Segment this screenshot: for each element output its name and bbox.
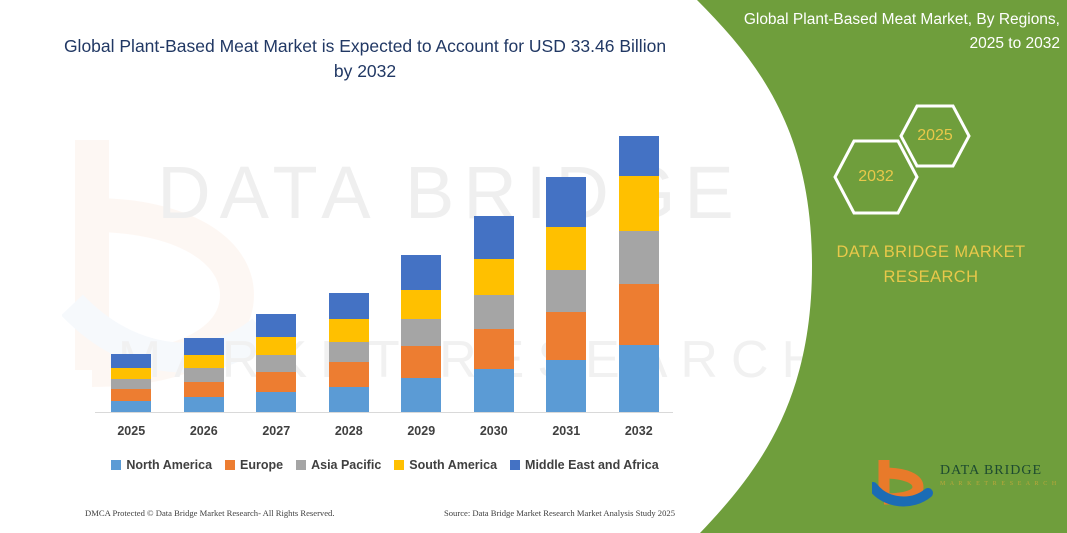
legend-swatch-europe [225, 460, 235, 470]
legend-item-asia-pacific[interactable]: Asia Pacific [296, 458, 381, 472]
bar-2032 [619, 136, 659, 413]
panel-title: Global Plant-Based Meat Market, By Regio… [740, 8, 1060, 56]
bar-segment-2029-middle-east-and-africa [401, 255, 441, 290]
bar-segment-2031-middle-east-and-africa [546, 177, 586, 227]
legend-swatch-middle-east-and-africa [510, 460, 520, 470]
bar-segment-2028-asia-pacific [329, 342, 369, 362]
bar-segment-2028-middle-east-and-africa [329, 293, 369, 319]
chart-title: Global Plant-Based Meat Market is Expect… [60, 34, 670, 84]
bar-segment-2031-europe [546, 312, 586, 360]
bar-segment-2026-asia-pacific [184, 368, 224, 382]
hexagon-year-2025: 2025 [898, 103, 972, 169]
bar-segment-2031-north-america [546, 360, 586, 413]
bar-segment-2032-south-america [619, 176, 659, 231]
infographic-canvas: DATA BRIDGE MARKET RESEARCH Global Plant… [0, 0, 1067, 533]
bar-segment-2028-north-america [329, 387, 369, 413]
legend-swatch-north-america [111, 460, 121, 470]
x-axis-label-2027: 2027 [240, 424, 312, 438]
bar-2026 [184, 338, 224, 413]
x-axis-label-2026: 2026 [168, 424, 240, 438]
bar-segment-2028-south-america [329, 319, 369, 341]
x-axis-label-2028: 2028 [313, 424, 385, 438]
bar-segment-2026-north-america [184, 397, 224, 413]
logo-name: DATA BRIDGE [940, 463, 1042, 479]
bar-segment-2031-asia-pacific [546, 270, 586, 311]
footer: DMCA Protected © Data Bridge Market Rese… [85, 508, 675, 518]
bar-2031 [546, 177, 586, 413]
bar-segment-2025-south-america [111, 368, 151, 379]
panel-brand-text: DATA BRIDGE MARKET RESEARCH [790, 240, 1067, 290]
hexagon-2025-label: 2025 [917, 127, 953, 145]
data-bridge-mark-icon [872, 457, 934, 507]
legend-item-north-america[interactable]: North America [111, 458, 212, 472]
bar-segment-2027-south-america [256, 337, 296, 355]
bar-segment-2026-middle-east-and-africa [184, 338, 224, 355]
legend-item-south-america[interactable]: South America [394, 458, 497, 472]
bar-segment-2032-asia-pacific [619, 231, 659, 284]
bar-segment-2032-north-america [619, 345, 659, 413]
x-axis-line [95, 412, 673, 413]
bar-segment-2029-north-america [401, 378, 441, 413]
bar-segment-2029-europe [401, 346, 441, 378]
legend-label-asia-pacific: Asia Pacific [311, 458, 381, 472]
bar-segment-2027-middle-east-and-africa [256, 314, 296, 337]
logo-subtitle: M A R K E T R E S E A R C H [940, 481, 1058, 487]
legend-label-middle-east-and-africa: Middle East and Africa [525, 458, 659, 472]
bar-2029 [401, 255, 441, 413]
bar-chart-plot-area [95, 110, 675, 413]
bar-2025 [111, 354, 151, 413]
bar-segment-2029-south-america [401, 290, 441, 319]
bar-segment-2030-north-america [474, 369, 514, 413]
legend-label-north-america: North America [126, 458, 212, 472]
legend-item-middle-east-and-africa[interactable]: Middle East and Africa [510, 458, 659, 472]
footer-source: Source: Data Bridge Market Research Mark… [444, 508, 675, 518]
legend-swatch-asia-pacific [296, 460, 306, 470]
legend-label-south-america: South America [409, 458, 497, 472]
x-axis-label-2030: 2030 [458, 424, 530, 438]
bar-segment-2026-south-america [184, 355, 224, 369]
x-axis-label-2025: 2025 [95, 424, 167, 438]
bar-segment-2030-asia-pacific [474, 295, 514, 329]
bar-2028 [329, 293, 369, 413]
bar-2027 [256, 314, 296, 413]
bar-segment-2027-north-america [256, 392, 296, 413]
bar-segment-2025-europe [111, 389, 151, 401]
bar-segment-2027-asia-pacific [256, 355, 296, 372]
bar-segment-2030-middle-east-and-africa [474, 216, 514, 259]
data-bridge-logo: DATA BRIDGE M A R K E T R E S E A R C H [872, 457, 1052, 509]
x-axis-labels: 20252026202720282029203020312032 [95, 424, 675, 444]
bar-segment-2032-europe [619, 284, 659, 345]
x-axis-label-2029: 2029 [385, 424, 457, 438]
footer-copyright: DMCA Protected © Data Bridge Market Rese… [85, 508, 335, 518]
bar-segment-2026-europe [184, 382, 224, 398]
bar-2030 [474, 216, 514, 413]
x-axis-label-2031: 2031 [530, 424, 602, 438]
bar-segment-2028-europe [329, 362, 369, 386]
bar-segment-2030-europe [474, 329, 514, 369]
bar-segment-2032-middle-east-and-africa [619, 136, 659, 176]
legend-item-europe[interactable]: Europe [225, 458, 283, 472]
bar-segment-2031-south-america [546, 227, 586, 270]
bar-segment-2030-south-america [474, 259, 514, 295]
hexagon-2032-label: 2032 [858, 168, 894, 186]
chart-legend: North AmericaEuropeAsia PacificSouth Ame… [95, 455, 675, 475]
bar-segment-2029-asia-pacific [401, 319, 441, 346]
legend-swatch-south-america [394, 460, 404, 470]
bar-segment-2025-middle-east-and-africa [111, 354, 151, 368]
legend-label-europe: Europe [240, 458, 283, 472]
bar-segment-2025-asia-pacific [111, 379, 151, 389]
x-axis-label-2032: 2032 [603, 424, 675, 438]
bar-segment-2027-europe [256, 372, 296, 392]
